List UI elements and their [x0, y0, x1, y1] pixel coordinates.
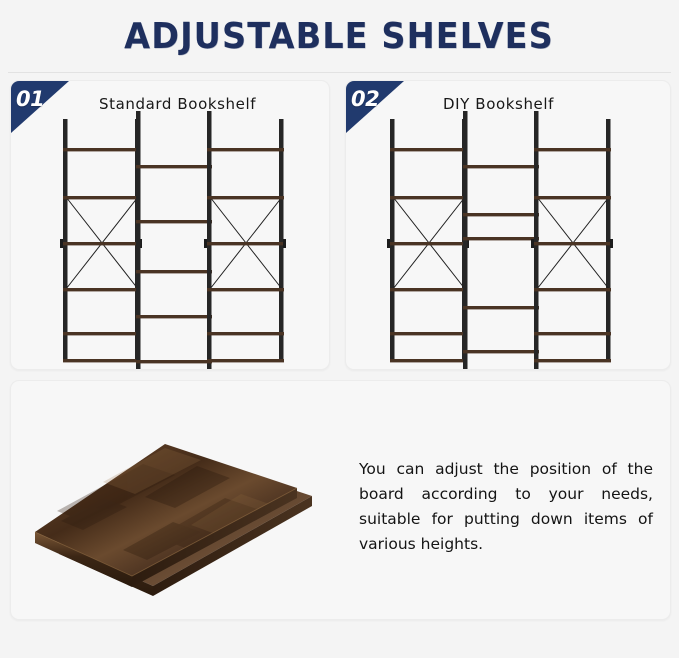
shelf-clip-icon	[60, 239, 63, 248]
shelf-board	[534, 148, 611, 151]
panel-number: 02	[351, 87, 379, 111]
shelf-board	[207, 359, 284, 362]
middle-bay	[136, 111, 212, 369]
shelf-board	[207, 242, 284, 245]
shelf-board	[207, 332, 284, 335]
post-left	[534, 119, 539, 361]
page-title: ADJUSTABLE SHELVES	[125, 16, 555, 57]
shelf-board	[207, 196, 284, 199]
shelf-clip-icon	[204, 239, 207, 248]
shelf-board	[63, 242, 140, 245]
shelf-board	[136, 360, 212, 363]
shelf-board	[390, 288, 467, 291]
shelf-board	[136, 270, 212, 273]
shelf-board	[63, 332, 140, 335]
shelf-board	[534, 242, 611, 245]
shelf-board	[534, 332, 611, 335]
shelf-board	[390, 196, 467, 199]
shelf-clip-icon	[387, 239, 390, 248]
shelf-board	[534, 288, 611, 291]
page-root: ADJUSTABLE SHELVES 01 Standard Bookshelf	[0, 0, 679, 658]
panel-number: 01	[16, 87, 44, 111]
wooden-board-image	[25, 436, 335, 601]
bookshelf-diagram-diy	[346, 111, 670, 369]
shelf-clip-icon	[531, 239, 534, 248]
shelf-board	[207, 148, 284, 151]
shelf-clip-icon	[610, 239, 613, 248]
shelf-board	[390, 242, 467, 245]
page-title-bar: ADJUSTABLE SHELVES	[0, 0, 679, 72]
title-divider	[8, 72, 671, 73]
left-bay	[60, 119, 142, 362]
shelf-board	[534, 359, 611, 362]
shelf-board	[463, 213, 539, 216]
shelf-board	[534, 196, 611, 199]
shelf-board	[63, 148, 140, 151]
post-right	[279, 119, 284, 361]
panel-diy-bookshelf: 02 DIY Bookshelf	[345, 80, 671, 370]
shelf-board	[390, 359, 467, 362]
shelf-board	[136, 220, 212, 223]
shelf-board	[63, 359, 140, 362]
post-left	[63, 119, 68, 361]
post-left	[136, 111, 141, 369]
shelf-board	[63, 196, 140, 199]
shelf-board	[63, 288, 140, 291]
shelf-board	[390, 332, 467, 335]
panel-standard-bookshelf: 01 Standard Bookshelf	[10, 80, 330, 370]
shelf-board	[463, 237, 539, 240]
shelf-board	[463, 350, 539, 353]
post-right	[606, 119, 611, 361]
post-left	[207, 119, 212, 361]
shelf-board	[390, 148, 467, 151]
shelf-board	[463, 165, 539, 168]
shelf-board	[463, 306, 539, 309]
description-paragraph: You can adjust the position of the board…	[359, 457, 653, 557]
panel-board-description: You can adjust the position of the board…	[10, 380, 671, 620]
bookshelf-diagram-standard	[11, 111, 329, 369]
post-left	[390, 119, 395, 361]
shelf-board	[136, 165, 212, 168]
right-bay	[531, 119, 613, 362]
middle-bay	[463, 111, 539, 369]
shelf-board	[136, 315, 212, 318]
left-bay	[387, 119, 469, 362]
board-upper	[35, 444, 297, 587]
shelf-clip-icon	[283, 239, 286, 248]
shelf-board	[207, 288, 284, 291]
right-bay	[204, 119, 286, 362]
